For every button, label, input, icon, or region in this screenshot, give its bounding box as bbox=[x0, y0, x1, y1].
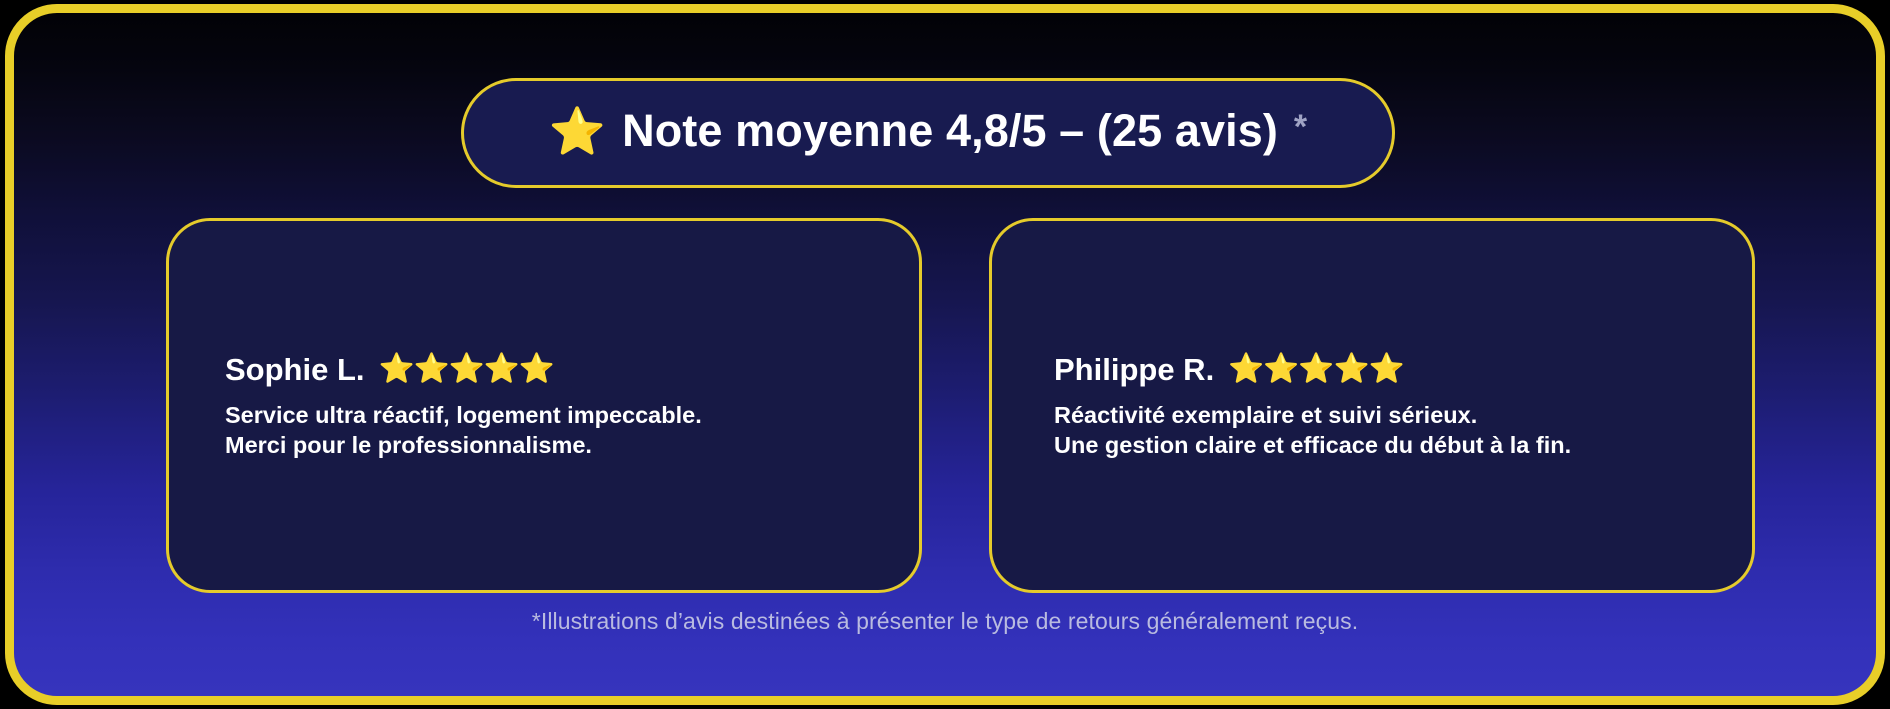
star-rating-icons: ⭐⭐⭐⭐⭐ bbox=[1228, 355, 1404, 384]
average-rating-row: ⭐ Note moyenne 4,8/5 – (25 avis) * bbox=[549, 105, 1307, 157]
testimonial-card: Sophie L. ⭐⭐⭐⭐⭐ Service ultra réactif, l… bbox=[166, 218, 922, 593]
testimonial-content: Sophie L. ⭐⭐⭐⭐⭐ Service ultra réactif, l… bbox=[169, 351, 919, 459]
reviewer-header: Sophie L. ⭐⭐⭐⭐⭐ bbox=[225, 351, 875, 387]
reviewer-name: Sophie L. bbox=[225, 351, 365, 387]
average-rating-pill: ⭐ Note moyenne 4,8/5 – (25 avis) * bbox=[461, 78, 1395, 188]
footnote-marker-icon: * bbox=[1294, 108, 1307, 147]
review-banner-frame: ⭐ Note moyenne 4,8/5 – (25 avis) * Sophi… bbox=[5, 4, 1885, 705]
review-text-line: Réactivité exemplaire et suivi sérieux. bbox=[1054, 399, 1708, 429]
reviewer-name: Philippe R. bbox=[1054, 351, 1214, 387]
review-text-line: Une gestion claire et efficace du début … bbox=[1054, 430, 1708, 460]
testimonial-card: Philippe R. ⭐⭐⭐⭐⭐ Réactivité exemplaire … bbox=[989, 218, 1755, 593]
review-text-line: Merci pour le professionnalisme. bbox=[225, 430, 875, 460]
star-rating-icons: ⭐⭐⭐⭐⭐ bbox=[379, 355, 555, 384]
review-text-line: Service ultra réactif, logement impeccab… bbox=[225, 399, 875, 429]
reviewer-header: Philippe R. ⭐⭐⭐⭐⭐ bbox=[1054, 351, 1708, 387]
testimonial-content: Philippe R. ⭐⭐⭐⭐⭐ Réactivité exemplaire … bbox=[992, 351, 1752, 459]
average-rating-title: Note moyenne 4,8/5 – (25 avis) bbox=[622, 105, 1278, 157]
star-icon: ⭐ bbox=[549, 108, 606, 154]
disclaimer-footnote: *Illustrations d’avis destinées à présen… bbox=[14, 608, 1876, 635]
